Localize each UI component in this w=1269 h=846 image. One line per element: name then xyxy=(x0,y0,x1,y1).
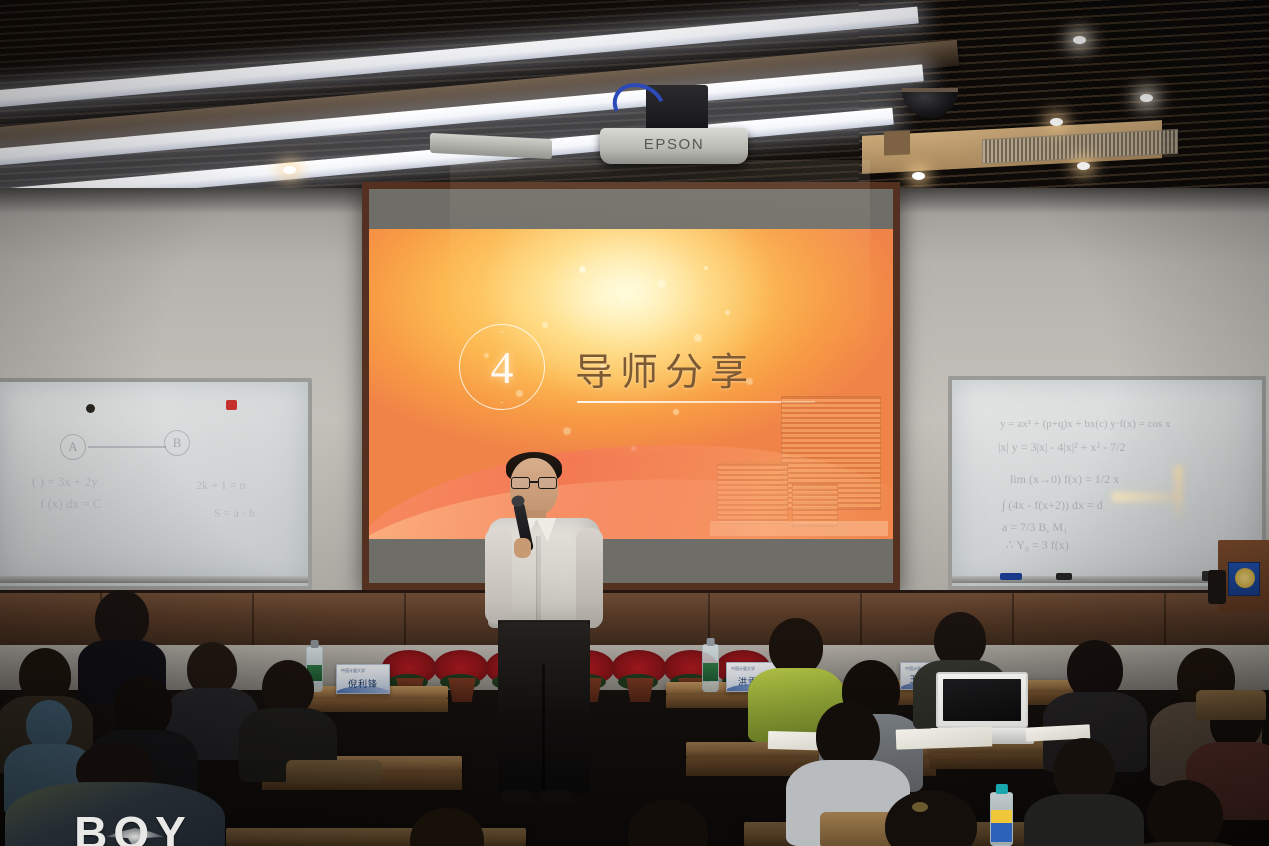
ceiling-light-icon xyxy=(1073,36,1086,44)
whiteboard-ink-line: S = a · b xyxy=(214,506,255,521)
presenter-shoe xyxy=(501,790,534,804)
projector-brand-label: EPSON xyxy=(600,136,748,153)
lecture-hall-photo: A B ( ) = 3x + 2y f (x) dx = C 2k + 1 = … xyxy=(0,0,1269,846)
whiteboard-left: A B ( ) = 3x + 2y f (x) dx = C 2k + 1 = … xyxy=(0,378,312,590)
hair-clip-icon xyxy=(912,802,928,812)
trouser-seam xyxy=(542,664,545,794)
university-emblem-icon xyxy=(1228,562,1260,596)
projection-screen: 4 导师分享 xyxy=(362,182,900,590)
audience-member xyxy=(1036,738,1132,846)
person-head xyxy=(885,790,977,846)
person-head xyxy=(26,700,72,750)
emblem-mark xyxy=(1235,568,1255,588)
whiteboard-ink-line: a = 7/3 B, M₁ xyxy=(1002,520,1067,535)
ceiling-access-hatch xyxy=(884,130,910,155)
slide-title: 导师分享 xyxy=(575,341,755,396)
bokeh-particle xyxy=(579,266,586,273)
person-body xyxy=(1115,842,1255,846)
paper-sheet xyxy=(896,726,993,749)
slide-content: 4 导师分享 xyxy=(369,229,893,539)
whiteboard-tray xyxy=(0,576,308,583)
shirt-placket xyxy=(536,536,541,628)
whiteboard-ink-line: lim (x→0) f(x) = 1/2 x xyxy=(1010,472,1119,487)
presenter-hand xyxy=(514,538,531,558)
ceiling-light-icon xyxy=(1050,118,1063,126)
podium xyxy=(1218,540,1269,612)
chair xyxy=(286,760,382,784)
bokeh-particle xyxy=(657,279,666,288)
whiteboard-node-a: A xyxy=(60,434,86,460)
audience-member-foreground xyxy=(1130,780,1240,846)
whiteboard-magnet xyxy=(226,400,237,410)
audience-member xyxy=(176,642,248,752)
flower-pot xyxy=(624,678,656,702)
bag xyxy=(1208,570,1226,604)
whiteboard-node-b: B xyxy=(164,430,190,456)
audience-member-foreground xyxy=(856,790,1006,846)
person-head xyxy=(628,800,708,846)
chair xyxy=(1196,690,1266,720)
water-bottle xyxy=(702,644,719,692)
bokeh-particle xyxy=(621,297,626,302)
name-placard: 中国计量大学 倪利锋 xyxy=(336,664,390,694)
laptop-screen xyxy=(943,679,1021,721)
bokeh-particle xyxy=(542,322,548,328)
person-body xyxy=(1024,794,1144,846)
whiteboard-ink-line: |x| y = 3|x| - 4|x|² + x² - 7/2 xyxy=(998,440,1125,455)
person-head xyxy=(1067,640,1123,700)
audience-member-foreground: BOY xyxy=(20,760,210,846)
flower-pot xyxy=(446,678,478,702)
whiteboard-ink-line: y = ax² + (p+q)x + bx(c) y·f(x) = cos x xyxy=(1000,418,1171,430)
ceiling-light-icon xyxy=(1077,162,1090,170)
bokeh-particle xyxy=(725,310,730,315)
presenter-arm xyxy=(485,528,512,624)
person-head xyxy=(410,808,484,846)
projector-icon: EPSON xyxy=(600,128,748,164)
presenter xyxy=(484,452,606,820)
presenter-shoe xyxy=(540,790,573,804)
whiteboard-ink-line: 2k + 1 = n xyxy=(196,478,246,493)
ceiling-light-icon xyxy=(912,172,925,180)
slide-number: 4 xyxy=(459,341,545,394)
ceiling-light-icon xyxy=(283,166,296,174)
laptop-lid xyxy=(936,672,1028,728)
person-head xyxy=(1147,780,1223,846)
whiteboard-connector xyxy=(88,446,166,448)
glasses-icon xyxy=(511,477,557,489)
presenter-arm xyxy=(576,528,603,628)
audience-member xyxy=(248,660,328,772)
bokeh-particle xyxy=(673,409,679,415)
whiteboard-ink-line: ∫ (4x - f(x+2)) dx = d xyxy=(1002,498,1103,513)
whiteboard-glare xyxy=(1112,492,1182,502)
bokeh-particle xyxy=(563,427,571,435)
whiteboard-magnet xyxy=(86,404,95,413)
audience-member-foreground xyxy=(392,808,502,846)
whiteboard-ink-line: ( ) = 3x + 2y xyxy=(32,474,98,490)
whiteboard-marker xyxy=(1000,573,1022,580)
whiteboard-glare xyxy=(1174,466,1183,518)
ceiling-light-icon xyxy=(1140,94,1153,102)
person-head xyxy=(114,676,172,738)
whiteboard-ink-line: f (x) dx = C xyxy=(40,496,102,512)
whiteboard-ink-line: ∴ Y₀ = 3 f(x) xyxy=(1006,538,1069,553)
whiteboard-marker xyxy=(1056,573,1072,580)
audience-member-foreground xyxy=(608,800,728,846)
